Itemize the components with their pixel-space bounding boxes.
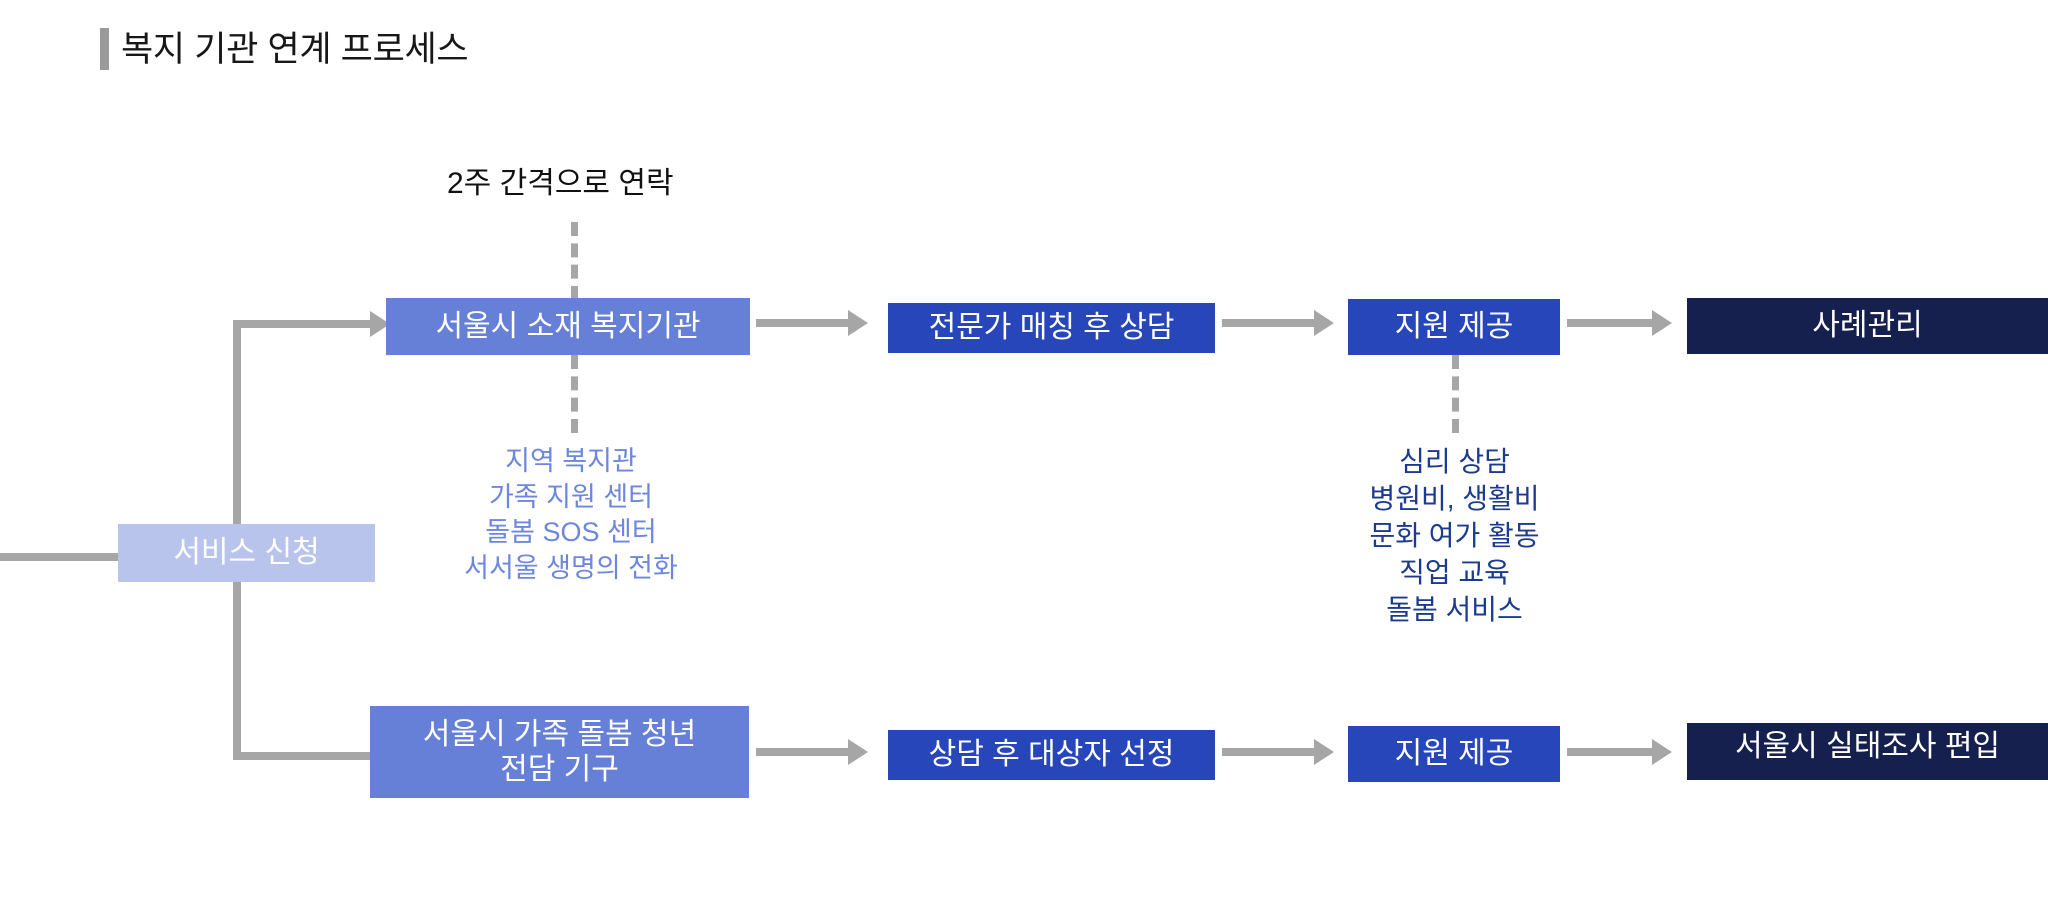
node-youth-caregiver-org-line2: 전담 기구 (423, 752, 696, 787)
annotation-support-item: 문화 여가 활동 (1362, 518, 1547, 555)
page-title: 복지 기관 연계 프로세스 (100, 28, 468, 70)
branch-line-bottom (233, 752, 378, 760)
node-survey-inclusion[interactable]: 서울시 실태조사 편입 (1687, 723, 2048, 780)
arrowhead-right-survey-inclusion (1652, 739, 1672, 765)
node-case-management[interactable]: 사례관리 (1687, 298, 2048, 354)
node-welfare-org[interactable]: 서울시 소재 복지기관 (386, 298, 750, 355)
annotation-support-item: 병원비, 생활비 (1362, 481, 1547, 518)
connector-welfare-to-expert (756, 319, 856, 327)
dashed-connector-support-to-list (1452, 355, 1459, 433)
node-support-provided-top[interactable]: 지원 제공 (1348, 299, 1560, 355)
annotation-welfare-org-item: 돌봄 SOS 센터 (411, 515, 731, 551)
node-welfare-org-label: 서울시 소재 복지기관 (435, 309, 700, 344)
entry-line-left (0, 553, 120, 561)
node-support-provided-bottom-label: 지원 제공 (1395, 736, 1514, 771)
annotation-welfare-org-item: 서서울 생명의 전화 (411, 551, 731, 587)
branch-line-top (233, 320, 378, 328)
node-case-management-label: 사례관리 (1812, 308, 1922, 343)
diagram-canvas: { "title": "복지 기관 연계 프로세스", "colors": { … (0, 0, 2048, 910)
arrowhead-right-target-selection (848, 739, 868, 765)
node-support-provided-top-label: 지원 제공 (1395, 309, 1514, 344)
connector-expert-to-support (1222, 319, 1322, 327)
node-survey-inclusion-label: 서울시 실태조사 편입 (1720, 729, 2015, 766)
node-target-selection[interactable]: 상담 후 대상자 선정 (888, 730, 1215, 780)
title-accent-bar (100, 28, 109, 70)
annotation-welfare-org-item: 가족 지원 센터 (411, 480, 731, 516)
connector-selection-to-support (1222, 748, 1322, 756)
node-youth-caregiver-org-line1: 서울시 가족 돌봄 청년 (423, 717, 696, 752)
node-target-selection-label: 상담 후 대상자 선정 (929, 737, 1175, 772)
node-youth-caregiver-org[interactable]: 서울시 가족 돌봄 청년 전담 기구 (370, 706, 749, 798)
arrowhead-right-expert-matching (848, 310, 868, 336)
arrowhead-right-support-bottom (1314, 739, 1334, 765)
arrowhead-right-support-top (1314, 310, 1334, 336)
node-service-request[interactable]: 서비스 신청 (118, 524, 375, 582)
connector-support-to-survey (1567, 748, 1659, 756)
annotation-support-item: 심리 상담 (1362, 444, 1547, 481)
title-label: 복지 기관 연계 프로세스 (121, 32, 468, 67)
annotation-support-list: 심리 상담 병원비, 생활비 문화 여가 활동 직업 교육 돌봄 서비스 (1362, 444, 1547, 629)
dashed-connector-contact-to-welfare-org (571, 222, 578, 300)
arrowhead-right-case-management (1652, 310, 1672, 336)
annotation-welfare-org-item: 지역 복지관 (411, 444, 731, 480)
connector-youth-to-selection (756, 748, 856, 756)
annotation-support-item: 돌봄 서비스 (1362, 592, 1547, 629)
dashed-connector-welfare-org-to-list (571, 355, 578, 433)
node-service-request-label: 서비스 신청 (173, 535, 319, 570)
node-expert-matching-label: 전문가 매칭 후 상담 (929, 310, 1175, 345)
caption-contact-interval: 2주 간격으로 연락 (447, 158, 674, 202)
node-youth-caregiver-org-label: 서울시 가족 돌봄 청년 전담 기구 (423, 717, 696, 788)
node-support-provided-bottom[interactable]: 지원 제공 (1348, 726, 1560, 782)
annotation-welfare-org-list: 지역 복지관 가족 지원 센터 돌봄 SOS 센터 서서울 생명의 전화 (411, 444, 731, 587)
connector-support-to-case (1567, 319, 1659, 327)
node-expert-matching[interactable]: 전문가 매칭 후 상담 (888, 303, 1215, 353)
annotation-support-item: 직업 교육 (1362, 555, 1547, 592)
